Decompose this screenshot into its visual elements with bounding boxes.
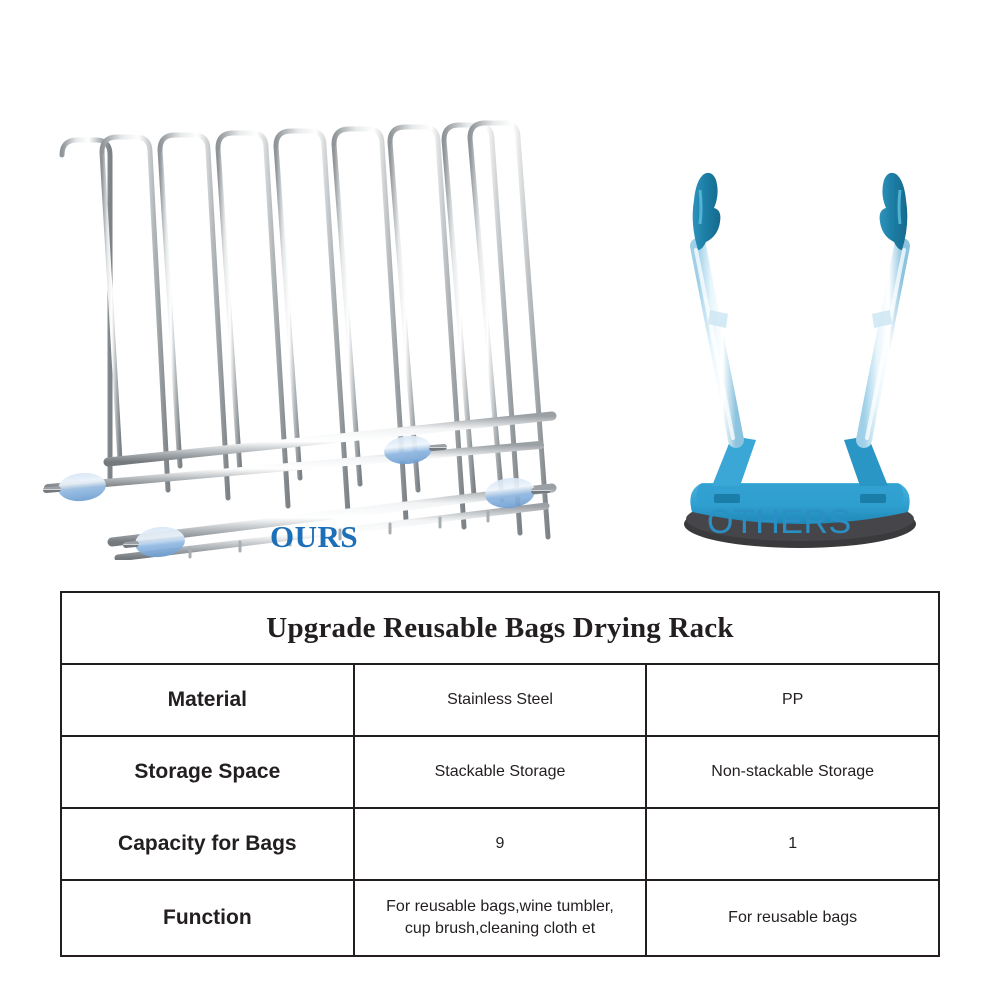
cell-ours-capacity: 9: [354, 808, 647, 880]
table-row: Storage Space Stackable Storage Non-stac…: [61, 736, 939, 808]
cell-others-capacity: 1: [646, 808, 939, 880]
plastic-v-stand-illustration: [640, 150, 960, 560]
table-row: Material Stainless Steel PP: [61, 664, 939, 736]
row-label-capacity: Capacity for Bags: [61, 808, 354, 880]
cell-others-material: PP: [646, 664, 939, 736]
right-clip: [880, 173, 908, 250]
row-label-material: Material: [61, 664, 354, 736]
cell-others-function: For reusable bags: [646, 880, 939, 956]
table-title: Upgrade Reusable Bags Drying Rack: [61, 592, 939, 664]
cell-ours-material: Stainless Steel: [354, 664, 647, 736]
cell-ours-storage-space: Stackable Storage: [354, 736, 647, 808]
others-label: OTHERS: [707, 503, 852, 542]
table-row: Capacity for Bags 9 1: [61, 808, 939, 880]
right-arm: [864, 246, 902, 440]
left-arm: [698, 246, 736, 440]
ours-product-image: [40, 110, 560, 560]
table-row: Function For reusable bags,wine tumbler,…: [61, 880, 939, 956]
row-label-storage-space: Storage Space: [61, 736, 354, 808]
others-product-image: [640, 150, 960, 560]
cell-ours-function: For reusable bags,wine tumbler, cup brus…: [354, 880, 647, 956]
left-clip: [693, 173, 721, 250]
product-comparison-area: OURS: [0, 0, 1000, 578]
stainless-steel-rack-illustration: [40, 110, 560, 560]
cell-ours-function-line2: cup brush,cleaning cloth et: [405, 920, 595, 937]
table-title-row: Upgrade Reusable Bags Drying Rack: [61, 592, 939, 664]
spec-comparison-table: Upgrade Reusable Bags Drying Rack Materi…: [60, 591, 940, 957]
cell-others-storage-space: Non-stackable Storage: [646, 736, 939, 808]
row-label-function: Function: [61, 880, 354, 956]
cell-ours-function-line1: For reusable bags,wine tumbler,: [386, 898, 614, 915]
ours-label: OURS: [270, 519, 358, 555]
